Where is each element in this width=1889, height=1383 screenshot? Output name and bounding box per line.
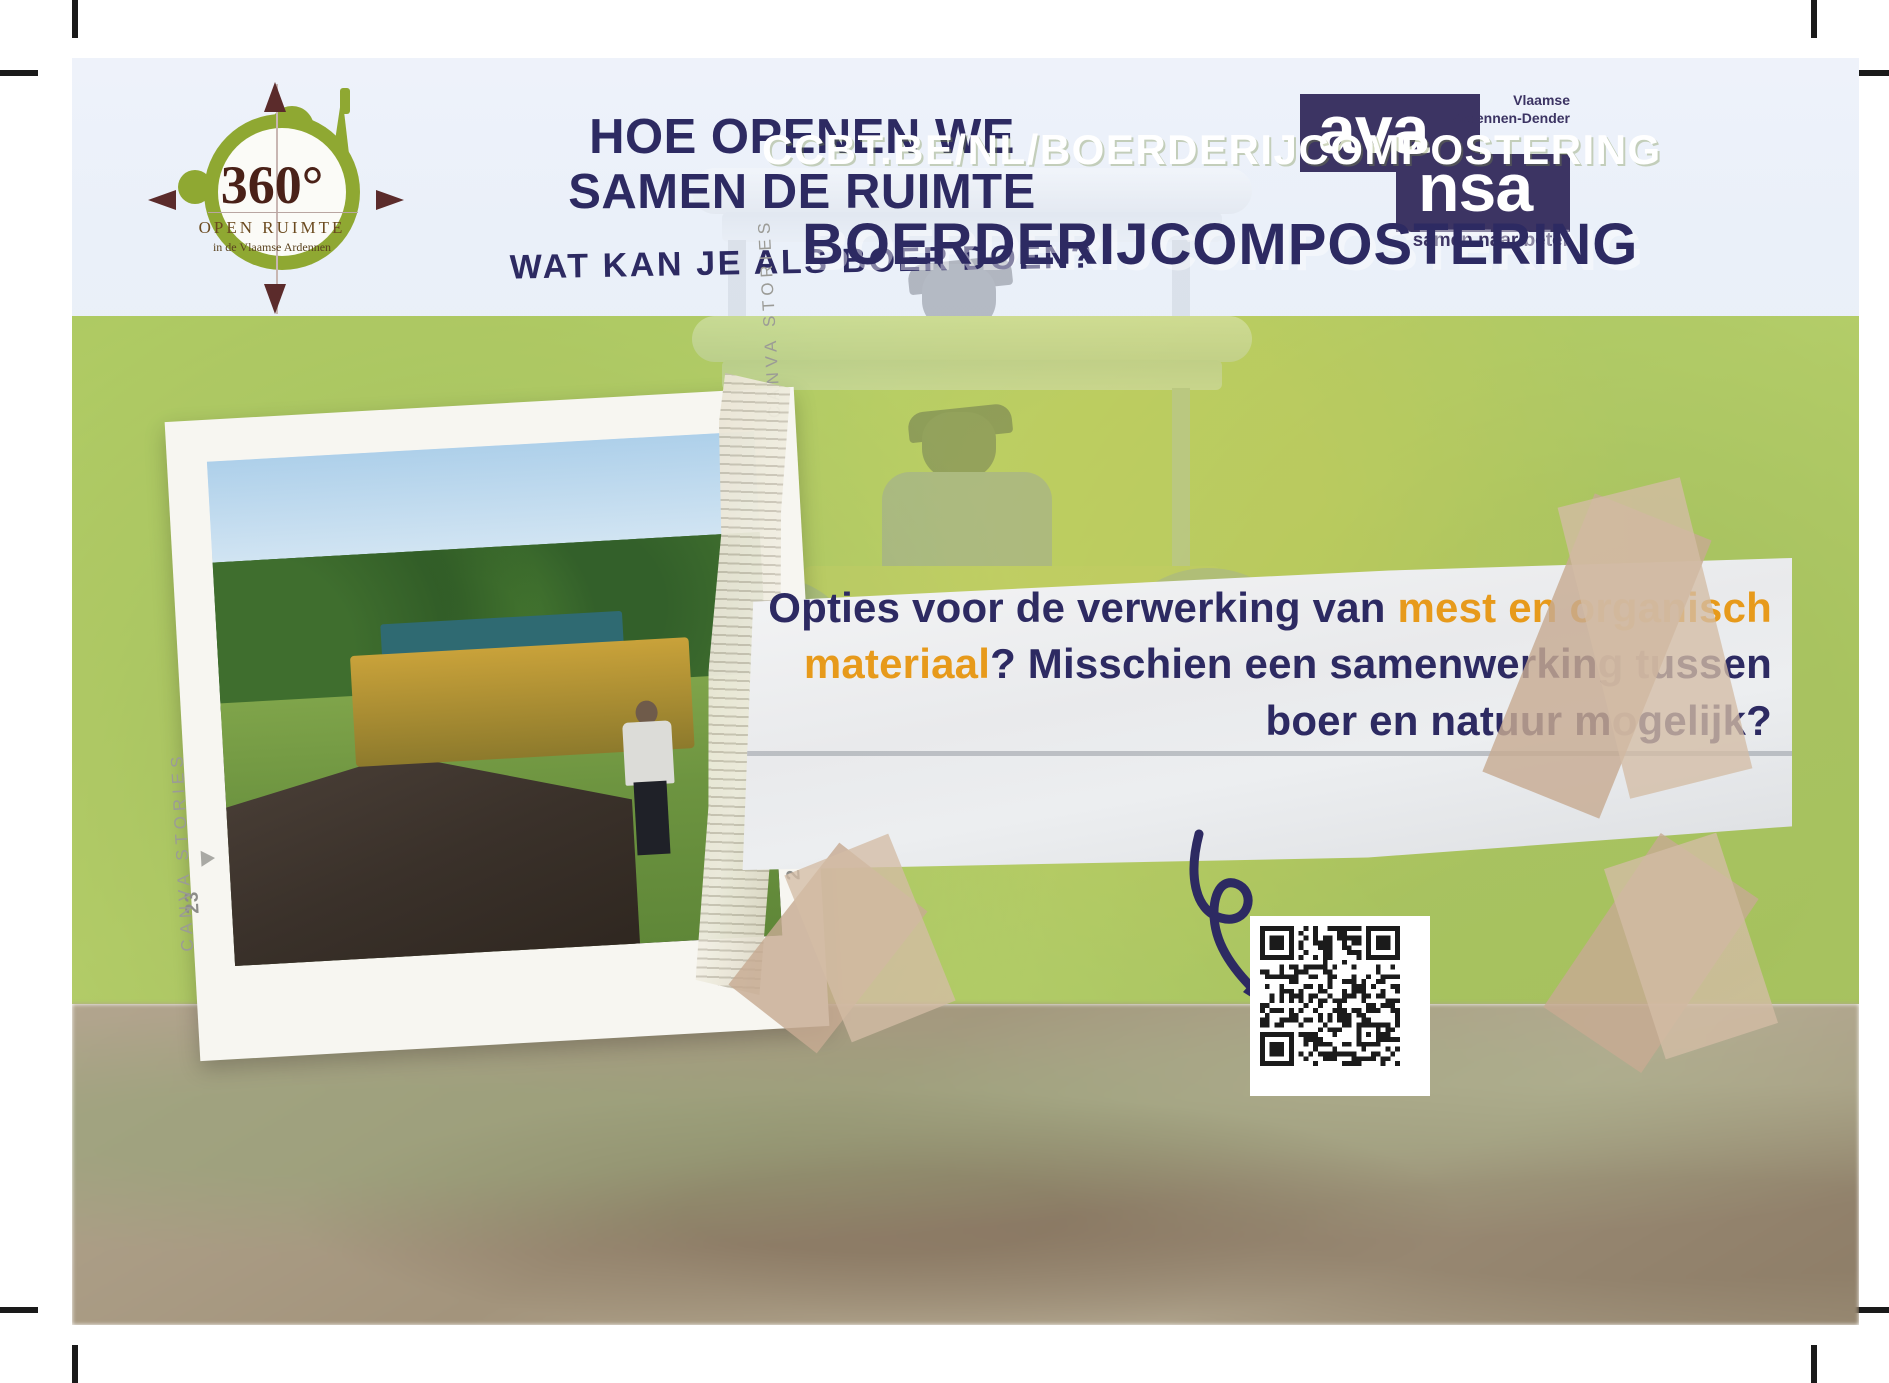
logo-360-line2: in de Vlaamse Ardennen	[152, 240, 392, 255]
website-url[interactable]: CCBT.BE/NL/BOERDERIJCOMPOSTERING	[762, 126, 1662, 174]
crop-mark-bottom-right-vertical	[1811, 1345, 1817, 1383]
crop-mark-top-left-vertical	[72, 0, 78, 38]
qr-code-graphic	[1260, 926, 1400, 1066]
avansa-region-line1: Vlaamse	[1513, 92, 1570, 108]
film-triangle-icon-left	[201, 850, 216, 867]
section-title: BOERDERIJCOMPOSTERING	[802, 211, 1638, 278]
crop-mark-bottom-left-vertical	[72, 1345, 78, 1383]
compost-photo	[207, 431, 782, 966]
avansa-region-line2: Ardennen-Dender	[1452, 110, 1570, 126]
crop-mark-top-left-horizontal	[0, 70, 38, 76]
crop-mark-bottom-left-horizontal	[0, 1307, 38, 1313]
compass-north-icon	[264, 82, 286, 112]
avansa-region: Vlaamse Ardennen-Dender	[1450, 92, 1570, 127]
poster-canvas: 360° OPEN RUIMTE in de Vlaamse Ardennen …	[72, 58, 1859, 1325]
qr-code[interactable]	[1250, 916, 1430, 1096]
crop-mark-top-right-vertical	[1811, 0, 1817, 38]
logo-360-number: 360°	[152, 158, 392, 212]
note-text-part1: Opties voor de verwerking van	[768, 584, 1397, 631]
logo-360-line1: OPEN RUIMTE	[152, 218, 392, 238]
logo-360-open-ruimte: 360° OPEN RUIMTE in de Vlaamse Ardennen	[152, 84, 392, 314]
compass-south-icon	[264, 284, 286, 314]
